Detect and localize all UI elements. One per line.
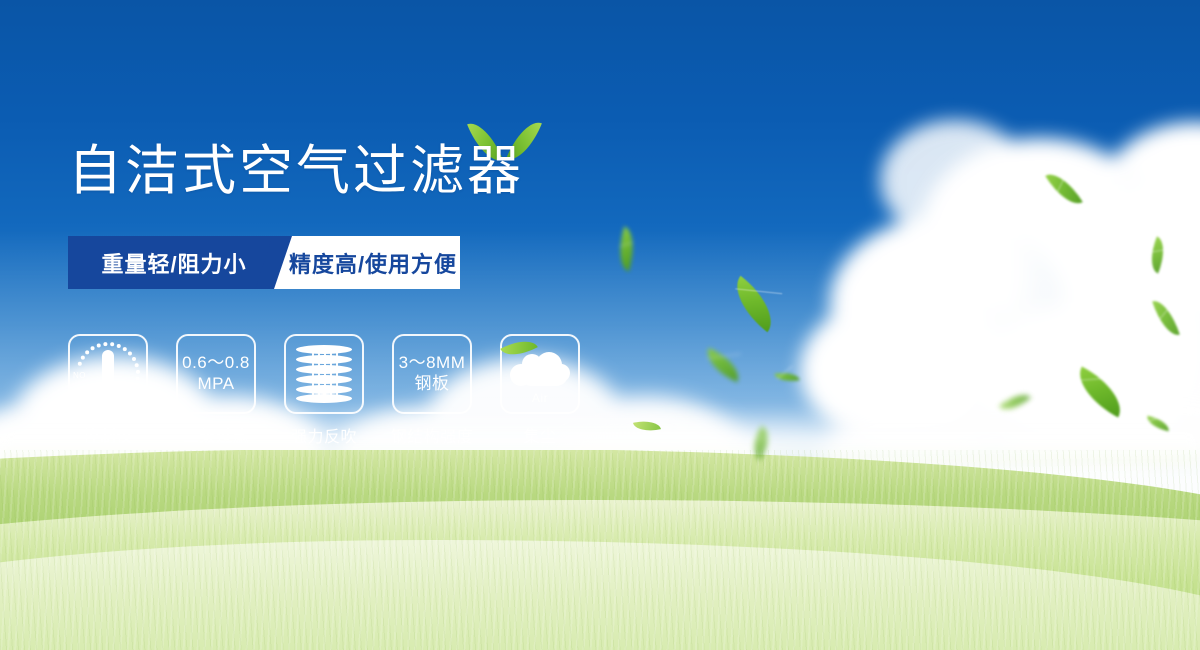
floating-leaf-3 bbox=[701, 348, 746, 383]
subtitle-right-text: 精度高/使用方便 bbox=[277, 247, 457, 279]
floating-leaf-7 bbox=[1152, 297, 1180, 340]
subtitle-left-text: 重量轻/阻力小 bbox=[101, 247, 246, 279]
product-banner: 自洁式空气过滤器 重量轻/阻力小 精度高/使用方便 bbox=[0, 0, 1200, 650]
feature-icon-box: NO OFF bbox=[68, 334, 148, 414]
pressure-text-icon: 0.6～0.8 MPA bbox=[182, 353, 250, 394]
pressure-unit: MPA bbox=[182, 374, 250, 395]
feature-label: 钢结构强度 bbox=[391, 423, 474, 447]
floating-leaf-8 bbox=[1069, 366, 1132, 417]
gauge-pointer bbox=[102, 350, 114, 398]
decor-leaf-near-label bbox=[633, 417, 661, 434]
feature-icon-box: 0.6～0.8 MPA bbox=[176, 334, 256, 414]
feature-label: 二级过滤 bbox=[183, 423, 249, 447]
feature-item-strong-back-blow[interactable]: 强力反吹 bbox=[284, 334, 364, 447]
feature-icon-box bbox=[284, 334, 364, 414]
airflow-stack-icon bbox=[296, 345, 352, 403]
gauge-on-label: NO bbox=[73, 371, 86, 380]
page-title: 自洁式空气过滤器 bbox=[68, 143, 524, 200]
subtitle-right-panel: 精度高/使用方便 bbox=[274, 236, 460, 289]
feature-icon-box: 3～8MM 钢板 bbox=[392, 334, 472, 414]
pressure-value: 0.6～0.8 bbox=[182, 353, 250, 374]
steel-text-icon: 3～8MM 钢板 bbox=[399, 353, 466, 394]
floating-leaf-6 bbox=[1144, 236, 1171, 273]
gauge-off-label: OFF bbox=[126, 394, 144, 403]
feature-label: 集尘 bbox=[523, 423, 556, 447]
subtitle-bar: 重量轻/阻力小 精度高/使用方便 bbox=[68, 236, 460, 289]
floating-leaf-5 bbox=[1045, 166, 1083, 211]
cloud-air-icon: Air bbox=[508, 346, 572, 402]
feature-item-dust-collection[interactable]: Air 集尘 bbox=[500, 334, 580, 447]
air-label: Air bbox=[508, 391, 572, 405]
cloud-large-right bbox=[800, 120, 1200, 460]
floating-leaf-1 bbox=[613, 226, 641, 271]
feature-item-steel-structure-strength[interactable]: 3～8MM 钢板 钢结构强度 bbox=[392, 334, 472, 447]
steel-material: 钢板 bbox=[399, 374, 466, 395]
grass-field bbox=[0, 450, 1200, 650]
feature-list: NO OFF 控制仪 0.6～0.8 MPA 二级过滤 bbox=[68, 334, 580, 447]
feature-label: 控制仪 bbox=[83, 423, 133, 447]
floating-leaf-10 bbox=[999, 387, 1031, 417]
feature-label: 强力反吹 bbox=[291, 423, 357, 447]
feature-icon-box: Air bbox=[500, 334, 580, 414]
floating-leaf-9 bbox=[1145, 416, 1171, 432]
floating-leaf-4 bbox=[774, 370, 799, 383]
feature-item-two-stage-filtration[interactable]: 0.6～0.8 MPA 二级过滤 bbox=[176, 334, 256, 447]
floating-leaf-2 bbox=[723, 276, 784, 333]
subtitle-left-panel: 重量轻/阻力小 bbox=[68, 236, 280, 289]
feature-item-control-instrument[interactable]: NO OFF 控制仪 bbox=[68, 334, 148, 447]
steel-thickness: 3～8MM bbox=[399, 353, 466, 374]
gauge-icon: NO OFF bbox=[75, 341, 141, 407]
